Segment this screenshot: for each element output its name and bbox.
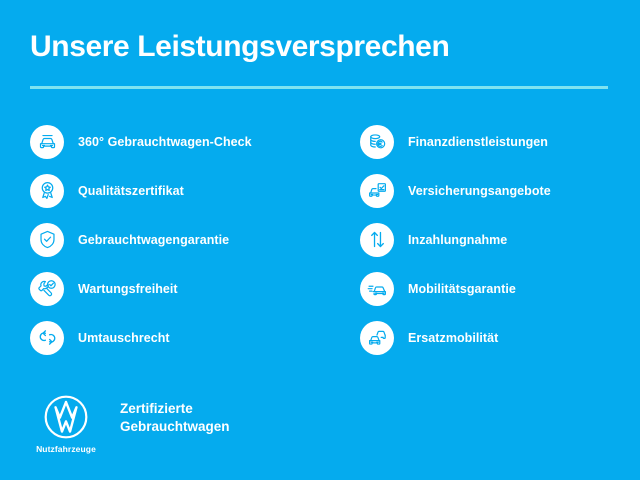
shield-check-icon [30,223,64,257]
car-document-icon [360,174,394,208]
page-title: Unsere Leistungsversprechen [30,30,610,63]
brand-footer: Nutzfahrzeuge Zertifizierte Gebrauchtwag… [30,394,230,454]
brand-subtitle: Nutzfahrzeuge [36,444,96,454]
promise-item-wartungsfreiheit: Wartungsfreiheit [30,264,360,313]
service-promises-poster: Unsere Leistungsversprechen 360° Gebrauc… [0,0,640,480]
exchange-arrows-icon [30,321,64,355]
promise-item-inzahlungnahme: Inzahlungnahme [360,215,610,264]
promise-label: Finanzdienstleistungen [408,135,548,149]
promise-item-versicherungsangebote: Versicherungsangebote [360,166,610,215]
promise-label: 360° Gebrauchtwagen-Check [78,135,252,149]
promise-label: Inzahlungnahme [408,233,507,247]
brand-mark: Nutzfahrzeuge [30,394,102,454]
promise-item-qualitaetszertifikat: Qualitätszertifikat [30,166,360,215]
quality-rosette-icon [30,174,64,208]
coins-euro-icon [360,125,394,159]
promise-label: Wartungsfreiheit [78,282,178,296]
promise-label: Ersatzmobilität [408,331,498,345]
promise-item-gebrauchtwagen-check: 360° Gebrauchtwagen-Check [30,117,360,166]
wrench-check-icon [30,272,64,306]
promise-item-umtauschrecht: Umtauschrecht [30,313,360,362]
arrows-up-down-icon [360,223,394,257]
promise-item-mobilitaetsgarantie: Mobilitätsgarantie [360,264,610,313]
promise-grid: 360° Gebrauchtwagen-Check Finanzdienstle… [30,117,610,362]
promise-label: Mobilitätsgarantie [408,282,516,296]
two-cars-icon [360,321,394,355]
promise-item-ersatzmobilitaet: Ersatzmobilität [360,313,610,362]
promise-label: Umtauschrecht [78,331,170,345]
promise-label: Versicherungsangebote [408,184,551,198]
title-divider [30,86,608,89]
car-inspection-icon [30,125,64,159]
car-motion-icon [360,272,394,306]
promise-label: Qualitätszertifikat [78,184,184,198]
poster-header: Unsere Leistungsversprechen [30,0,610,89]
promise-item-gebrauchtwagengarantie: Gebrauchtwagengarantie [30,215,360,264]
brand-tagline: Zertifizierte Gebrauchtwagen [120,394,230,436]
volkswagen-logo-icon [43,394,89,440]
promise-item-finanzdienstleistungen: Finanzdienstleistungen [360,117,610,166]
promise-label: Gebrauchtwagengarantie [78,233,229,247]
